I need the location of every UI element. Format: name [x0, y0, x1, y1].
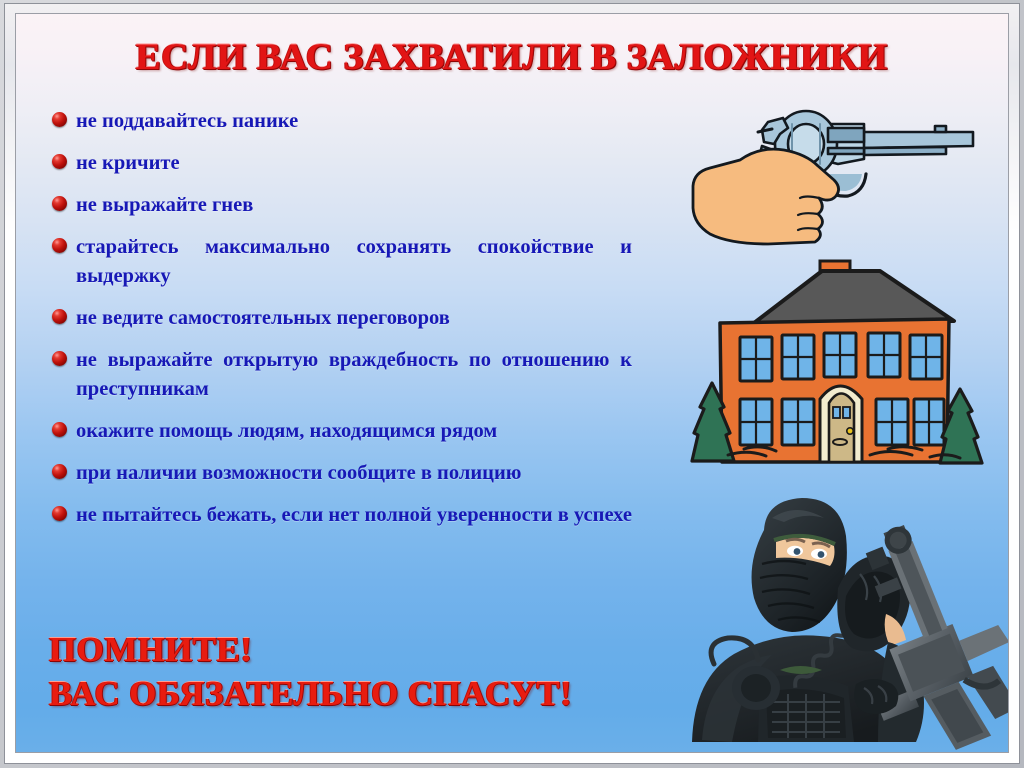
list-item: не выражайте открытую враждебность по от… [52, 346, 632, 404]
red-sphere-bullet-icon [52, 238, 67, 253]
poster-outer-frame: ЕСЛИ ВАС ЗАХВАТИЛИ В ЗАЛОЖНИКИ не поддав… [4, 3, 1020, 764]
footer-callout: ПОМНИТЕ! ВАС ОБЯЗАТЕЛЬНО СПАСУТ! [49, 628, 689, 716]
poster-title-area: ЕСЛИ ВАС ЗАХВАТИЛИ В ЗАЛОЖНИКИ [16, 36, 1008, 79]
operator-svg [688, 492, 1009, 753]
house-illustration [684, 257, 1009, 487]
safety-instructions-list: не поддавайтесь панике не кричите не выр… [52, 107, 632, 543]
poster-root: ЕСЛИ ВАС ЗАХВАТИЛИ В ЗАЛОЖНИКИ не поддав… [0, 0, 1024, 768]
special-forces-operator-illustration [688, 492, 1009, 753]
list-item-label: окажите помощь людям, находящимся рядом [76, 417, 632, 446]
list-item: не поддавайтесь панике [52, 107, 632, 136]
red-sphere-bullet-icon [52, 422, 67, 437]
list-item-label: не пытайтесь бежать, если нет полной уве… [76, 501, 632, 530]
hand-holding-revolver-illustration [688, 102, 1009, 252]
list-item: окажите помощь людям, находящимся рядом [52, 417, 632, 446]
list-item: при наличии возможности сообщите в полиц… [52, 459, 632, 488]
list-item-label: не ведите самостоятельных переговоров [76, 304, 632, 333]
list-item-label: при наличии возможности сообщите в полиц… [76, 459, 632, 488]
list-item-label: не выражайте гнев [76, 191, 632, 220]
footer-line-rescue: ВАС ОБЯЗАТЕЛЬНО СПАСУТ! [49, 672, 689, 716]
list-item: старайтесь максимально сохранять спокойс… [52, 233, 632, 291]
red-sphere-bullet-icon [52, 154, 67, 169]
list-item-label: не поддавайтесь панике [76, 107, 632, 136]
red-sphere-bullet-icon [52, 506, 67, 521]
red-sphere-bullet-icon [52, 464, 67, 479]
poster-inner-frame: ЕСЛИ ВАС ЗАХВАТИЛИ В ЗАЛОЖНИКИ не поддав… [15, 13, 1009, 753]
red-sphere-bullet-icon [52, 112, 67, 127]
red-sphere-bullet-icon [52, 309, 67, 324]
red-sphere-bullet-icon [52, 351, 67, 366]
revolver-svg [688, 102, 1009, 252]
poster-canvas: ЕСЛИ ВАС ЗАХВАТИЛИ В ЗАЛОЖНИКИ не поддав… [16, 14, 1008, 752]
list-item: не пытайтесь бежать, если нет полной уве… [52, 501, 632, 530]
list-item: не кричите [52, 149, 632, 178]
page-title: ЕСЛИ ВАС ЗАХВАТИЛИ В ЗАЛОЖНИКИ [136, 36, 888, 79]
house-svg [684, 257, 1009, 487]
footer-line-remember: ПОМНИТЕ! [49, 628, 689, 672]
red-sphere-bullet-icon [52, 196, 67, 211]
list-item-label: не кричите [76, 149, 632, 178]
list-item-label: старайтесь максимально сохранять спокойс… [76, 233, 632, 291]
list-item: не выражайте гнев [52, 191, 632, 220]
list-item-label: не выражайте открытую враждебность по от… [76, 346, 632, 404]
list-item: не ведите самостоятельных переговоров [52, 304, 632, 333]
